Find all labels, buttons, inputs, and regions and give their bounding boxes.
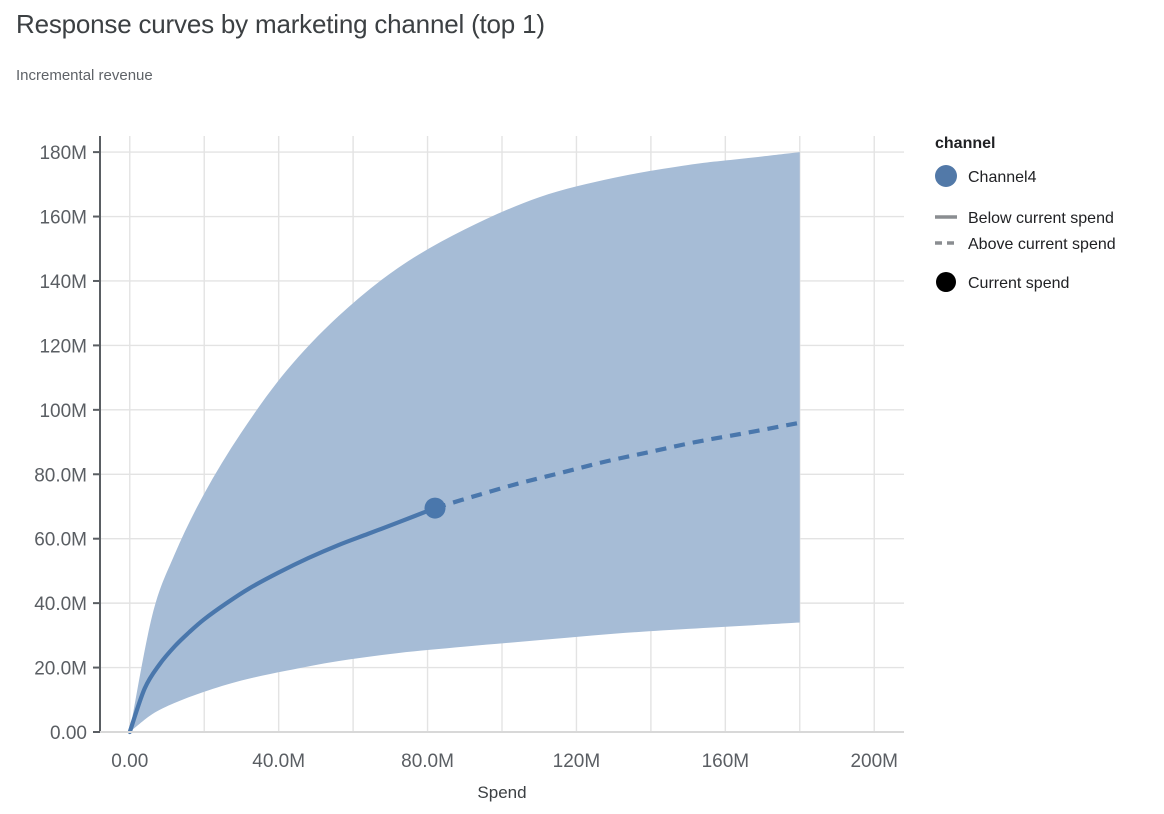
legend-swatch-current-spend[interactable] [936,272,956,292]
current-spend-point[interactable] [425,498,446,519]
y-tick-label: 160M [39,208,87,229]
y-tick-label: 180M [39,143,87,164]
x-axis-title: Spend [477,783,526,802]
x-tick-label: 40.0M [252,751,305,772]
x-tick-label: 200M [850,751,898,772]
y-tick-label: 80.0M [34,465,87,486]
legend-label-below-current-spend: Below current spend [968,210,1114,227]
y-tick-label: 60.0M [34,530,87,551]
legend-label-above-current-spend: Above current spend [968,236,1116,253]
x-tick-label: 0.00 [111,751,148,772]
y-tick-label: 0.00 [50,723,87,744]
current-spend-marker [425,498,446,519]
legend-swatch-channel4[interactable] [935,165,957,187]
x-tick-label: 160M [702,751,750,772]
x-tick-label: 120M [553,751,601,772]
x-tick-label: 80.0M [401,751,454,772]
legend-title: channel [935,135,995,152]
chart-container: Response curves by marketing channel (to… [0,0,1164,814]
page-title: Response curves by marketing channel (to… [16,9,545,40]
y-tick-label: 20.0M [34,659,87,680]
x-axis-ticks: 0.0040.0M80.0M120M160M200MSpend [111,751,898,802]
legend-label-current-spend: Current spend [968,275,1069,292]
legend: channelChannel4Below current spendAbove … [935,135,1116,292]
y-tick-label: 40.0M [34,594,87,615]
legend-label-channel4: Channel4 [968,169,1037,186]
response-curve-chart: 0.0020.0M40.0M60.0M80.0M100M120M140M160M… [0,0,1164,814]
y-tick-label: 120M [39,336,87,357]
y-tick-label: 100M [39,401,87,422]
y-axis-ticks: 0.0020.0M40.0M60.0M80.0M100M120M140M160M… [34,143,100,744]
chart-subtitle: Incremental revenue [16,67,153,84]
y-tick-label: 140M [39,272,87,293]
